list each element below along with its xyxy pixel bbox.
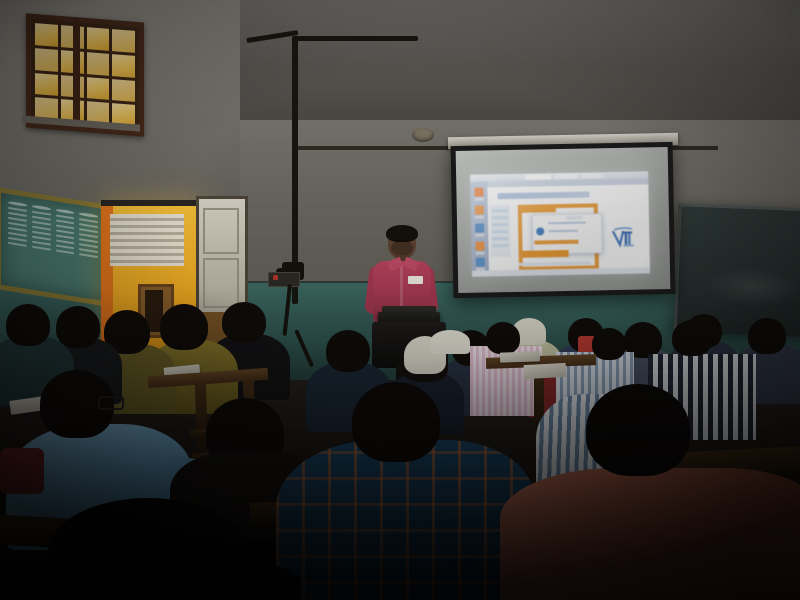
dialog-button[interactable] [566, 216, 582, 220]
notice-column [32, 205, 51, 286]
notice-row [56, 214, 75, 219]
notice-row [79, 253, 98, 258]
door-panel [203, 258, 239, 308]
notice-row [32, 226, 51, 231]
notice-row [8, 212, 27, 217]
input-field[interactable] [534, 240, 578, 245]
app-icon[interactable] [474, 188, 483, 197]
notice-row [79, 238, 98, 243]
window-pane [87, 77, 110, 101]
audience-head [486, 322, 520, 354]
window-pane [35, 73, 58, 97]
window-pane [112, 54, 135, 78]
notice-column [8, 201, 27, 282]
notice-row [56, 219, 75, 224]
audience-head [672, 320, 712, 356]
door-panel [203, 208, 239, 254]
notice-row [79, 228, 98, 233]
notice-row [56, 244, 75, 249]
browser-tab[interactable] [581, 173, 603, 178]
notice-row [56, 249, 75, 254]
form-field-highlight [522, 206, 556, 213]
audience-head [748, 318, 786, 354]
app-icon[interactable] [476, 258, 485, 267]
chalk-smudge [705, 265, 800, 309]
notice-row [8, 242, 27, 247]
notebook [524, 363, 567, 379]
door-louvers [110, 214, 184, 266]
app-icon[interactable] [475, 206, 484, 215]
window-pane [35, 23, 58, 47]
man-plaid-shirt-body [276, 440, 534, 600]
classroom-photo [0, 0, 800, 600]
notice-row [79, 248, 98, 253]
notice-column [79, 212, 98, 293]
app-icon[interactable] [475, 224, 484, 233]
window-pane [35, 48, 58, 72]
browser-tab[interactable] [525, 174, 551, 179]
indicator-light-icon [273, 275, 278, 280]
man-plaid-shirt-head [352, 382, 440, 462]
audience-head [222, 302, 266, 342]
notice-row [32, 211, 51, 216]
notice-row [8, 201, 27, 207]
presenter-face [391, 240, 413, 256]
notice-row [79, 243, 98, 248]
window-pane [87, 52, 110, 76]
projected-web-page [487, 184, 650, 270]
institute-logo-icon [611, 227, 639, 250]
audience-head [326, 330, 370, 372]
screen-surface [456, 147, 671, 293]
desktop-icon-column [470, 181, 489, 270]
notice-row [79, 223, 98, 228]
eyeglasses-icon [98, 396, 124, 410]
window-pane [87, 27, 110, 51]
notice-row [56, 234, 75, 239]
notice-row [32, 216, 51, 221]
submit-button[interactable] [523, 250, 569, 258]
paper-sheet [500, 351, 540, 362]
name-badge [408, 276, 423, 284]
audience-head [592, 328, 626, 360]
audience-head [160, 304, 208, 350]
app-icon[interactable] [475, 242, 484, 251]
notice-row [32, 246, 51, 251]
conduit-pipe [292, 36, 418, 41]
window-mullion [73, 18, 80, 123]
notice-row [8, 222, 27, 227]
foreground-head [48, 498, 248, 600]
notice-board [0, 187, 110, 307]
notice-row [79, 233, 98, 238]
audience-head [6, 304, 50, 346]
notice-row [56, 208, 75, 214]
man-orange-shirt-head [586, 384, 690, 476]
notice-row [8, 232, 27, 237]
notice-row [32, 231, 51, 236]
notice-row [79, 218, 98, 223]
notice-row [32, 205, 51, 211]
notice-row [8, 237, 27, 242]
projected-browser-window [470, 171, 650, 276]
notice-row [56, 224, 75, 229]
notice-row [32, 241, 51, 246]
notice-row [8, 207, 27, 212]
projection-screen [451, 142, 676, 298]
page-sidebar [490, 205, 511, 257]
notice-row [32, 221, 51, 226]
window-pane [112, 29, 135, 53]
backpack [0, 448, 44, 494]
notice-row [79, 212, 98, 218]
notice-board-content [8, 201, 98, 293]
notice-row [56, 229, 75, 234]
ceiling-junction-box [412, 128, 434, 142]
window-pane-grid [35, 23, 135, 127]
prayer-cap [430, 330, 470, 354]
shirt-shading [500, 468, 800, 600]
notice-column [56, 208, 75, 289]
window-pane [112, 79, 135, 103]
audience-head [56, 306, 100, 348]
page-heading [497, 191, 589, 199]
notice-row [32, 236, 51, 241]
notice-row [56, 239, 75, 244]
notice-row [8, 227, 27, 232]
browser-tab[interactable] [554, 174, 578, 179]
notice-row [8, 217, 27, 222]
